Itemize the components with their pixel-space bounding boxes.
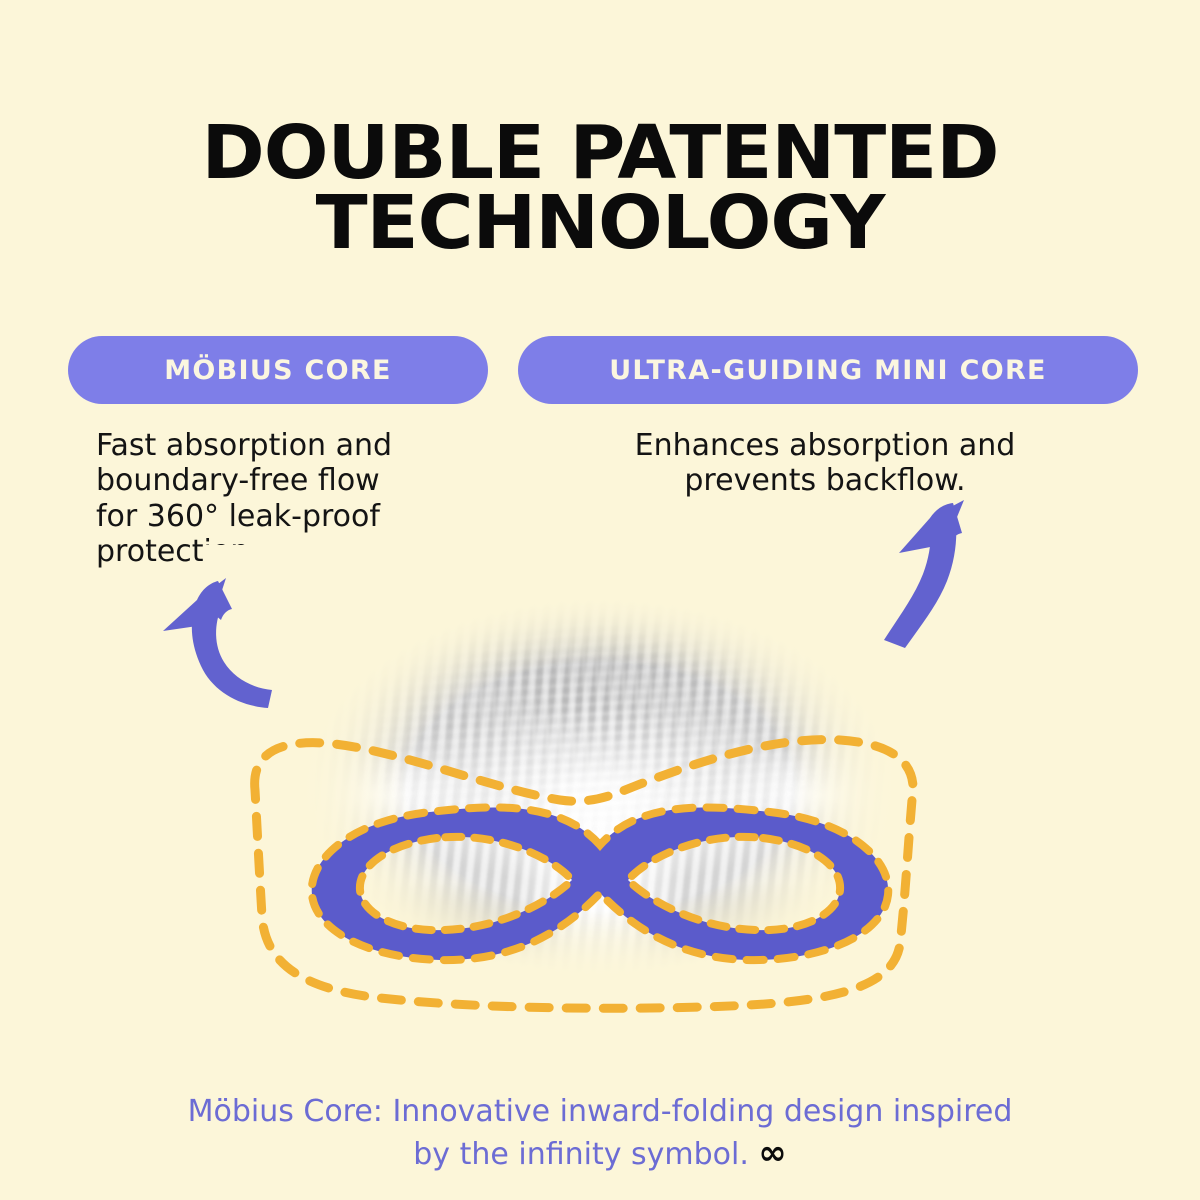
infographic-canvas: DOUBLE PATENTED TECHNOLOGY MÖBIUS CORE U… (0, 0, 1200, 1200)
arrow-right-icon (884, 500, 964, 648)
infinity-symbol (312, 807, 889, 960)
infinity-glyph-icon: ∞ (758, 1133, 786, 1173)
infinity-fill (312, 807, 889, 960)
arrow-left-icon (163, 578, 272, 708)
caption-text: Möbius Core: Innovative inward-folding d… (188, 1094, 1013, 1171)
graphic-overlay (0, 0, 1200, 1200)
caption: Möbius Core: Innovative inward-folding d… (0, 1055, 1200, 1175)
